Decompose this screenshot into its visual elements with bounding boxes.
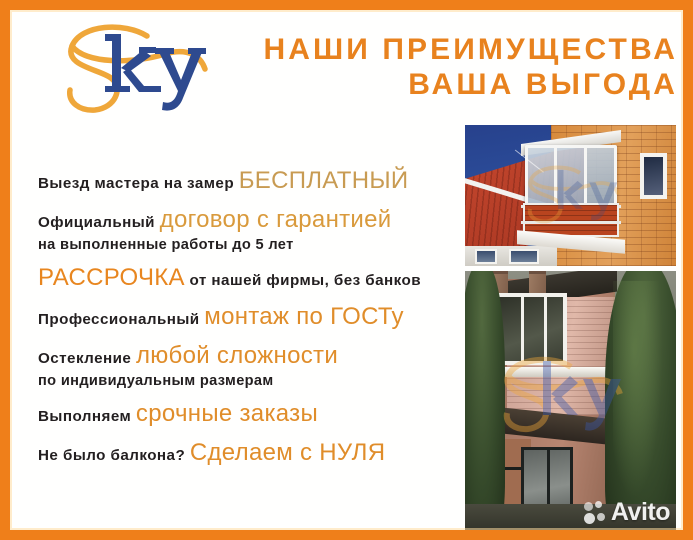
benefit-item-5: Остекление любой сложности по индивидуал…: [38, 343, 466, 390]
benefit-6-highlight: срочные заказы: [136, 400, 318, 427]
sky-watermark-bottom: [491, 349, 641, 449]
benefit-1-plain-before: Выезд мастера на замер: [38, 175, 239, 192]
advertisement-banner: НАШИ ПРЕИМУЩЕСТВА ВАША ВЫГОДА Выезд маст…: [0, 0, 693, 540]
benefit-item-7: Не было балкона? Сделаем с НУЛЯ: [38, 440, 466, 468]
benefit-item-1: Выезд мастера на замер БЕСПЛАТНЫЙ: [38, 168, 466, 196]
headline-line-2: ВАША ВЫГОДА: [260, 67, 678, 102]
photo-balcony-brick-building: [465, 125, 676, 266]
headline-line-1: НАШИ ПРЕИМУЩЕСТВА: [263, 33, 678, 66]
avito-wordmark: Avito: [611, 500, 670, 525]
benefit-7-plain-before: Не было балкона?: [38, 447, 190, 464]
benefit-5-highlight: любой сложности: [136, 342, 338, 369]
facade-window: [640, 153, 667, 199]
photo-balcony-siding-house: Avito: [465, 271, 676, 530]
benefit-2-highlight: договор с гарантией: [160, 206, 392, 233]
benefit-5-plain-before: Остекление: [38, 350, 136, 367]
lower-window-left: [475, 249, 497, 264]
benefit-1-highlight: БЕСПЛАТНЫЙ: [239, 167, 409, 194]
benefit-item-2: Официальный договор с гарантией на выпол…: [38, 207, 466, 254]
benefit-4-highlight: монтаж по ГОСТу: [204, 303, 404, 330]
ad-header: НАШИ ПРЕИМУЩЕСТВА ВАША ВЫГОДА: [10, 10, 683, 118]
benefit-4-plain-before: Профессиональный: [38, 311, 204, 328]
benefits-list: Выезд мастера на замер БЕСПЛАТНЫЙ Официа…: [38, 168, 466, 468]
benefit-6-plain-before: Выполняем: [38, 408, 136, 425]
benefit-7-highlight: Сделаем с НУЛЯ: [190, 439, 386, 466]
sky-watermark-top: [517, 159, 635, 237]
sky-logo: [55, 20, 225, 120]
benefit-item-6: Выполняем срочные заказы: [38, 401, 466, 429]
benefit-2-plain-before: Официальный: [38, 214, 160, 231]
benefit-3-highlight: РАССРОЧКА: [38, 264, 185, 291]
benefit-5-subtext: по индивидуальным размерам: [38, 372, 466, 390]
avito-logo-icon: [584, 501, 607, 524]
lower-window-right: [509, 249, 539, 264]
page-title: НАШИ ПРЕИМУЩЕСТВА ВАША ВЫГОДА: [260, 32, 678, 102]
benefit-item-4: Профессиональный монтаж по ГОСТу: [38, 304, 466, 332]
ad-canvas: НАШИ ПРЕИМУЩЕСТВА ВАША ВЫГОДА Выезд маст…: [10, 10, 683, 530]
avito-watermark: Avito: [584, 500, 670, 525]
benefit-item-3: РАССРОЧКА от нашей фирмы, без банков: [38, 265, 466, 293]
benefit-3-plain-after: от нашей фирмы, без банков: [185, 272, 421, 289]
benefit-2-subtext: на выполненные работы до 5 лет: [38, 236, 466, 254]
